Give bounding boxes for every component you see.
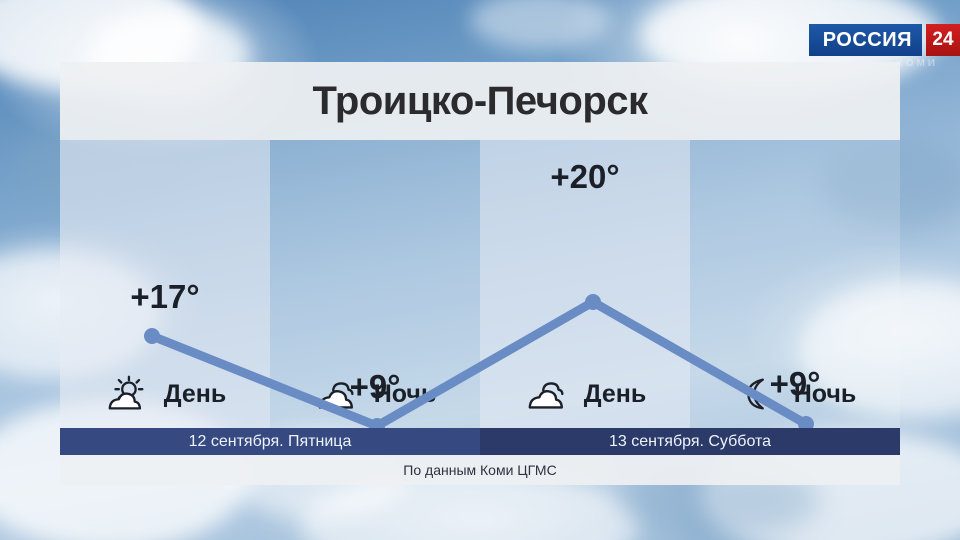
page-title: Троицко-Печорск bbox=[312, 79, 647, 124]
cloud-shape bbox=[470, 0, 610, 50]
channel-name: РОССИЯ bbox=[823, 29, 912, 52]
date-strip: 12 сентября. Пятница 13 сентября. Суббот… bbox=[60, 428, 900, 455]
date-label-friday: 12 сентября. Пятница bbox=[60, 428, 480, 455]
source-footer: По данным Коми ЦГМС bbox=[60, 455, 900, 485]
period-label: День bbox=[164, 380, 227, 409]
channel-name-block: РОССИЯ bbox=[809, 24, 922, 56]
forecast-column-1: +9° Ночь bbox=[270, 140, 480, 428]
period-row: День bbox=[480, 374, 690, 414]
forecast-column-0: +17° День bbox=[60, 140, 270, 428]
period-label: Ночь bbox=[794, 380, 857, 409]
channel-logo-bar: РОССИЯ 24 bbox=[809, 24, 960, 56]
source-text: По данным Коми ЦГМС bbox=[403, 462, 556, 478]
period-label: Ночь bbox=[374, 380, 437, 409]
cloud-icon bbox=[524, 374, 570, 414]
forecast-column-2: +20° День bbox=[480, 140, 690, 428]
period-row: Ночь bbox=[270, 374, 480, 414]
title-bar: Троицко-Печорск bbox=[60, 62, 900, 140]
sun-cloud-icon bbox=[104, 374, 150, 414]
date-label-saturday: 13 сентября. Суббота bbox=[480, 428, 900, 455]
forecast-body: +17° День +9° bbox=[60, 140, 900, 428]
period-row: День bbox=[60, 374, 270, 414]
temperature-value: +20° bbox=[480, 158, 690, 196]
channel-number-block: 24 bbox=[926, 24, 960, 56]
forecast-panel: Троицко-Печорск +17° День bbox=[60, 62, 900, 485]
weather-forecast-screen: РОССИЯ 24 КОМИ Троицко-Печорск +17° bbox=[0, 0, 960, 540]
period-label: День bbox=[584, 380, 647, 409]
moon-icon bbox=[734, 374, 780, 414]
channel-number: 24 bbox=[932, 29, 953, 51]
forecast-column-3: +9° Ночь bbox=[690, 140, 900, 428]
temperature-value: +17° bbox=[60, 278, 270, 316]
cloud-icon bbox=[314, 374, 360, 414]
period-row: Ночь bbox=[690, 374, 900, 414]
channel-region: КОМИ bbox=[897, 58, 938, 69]
